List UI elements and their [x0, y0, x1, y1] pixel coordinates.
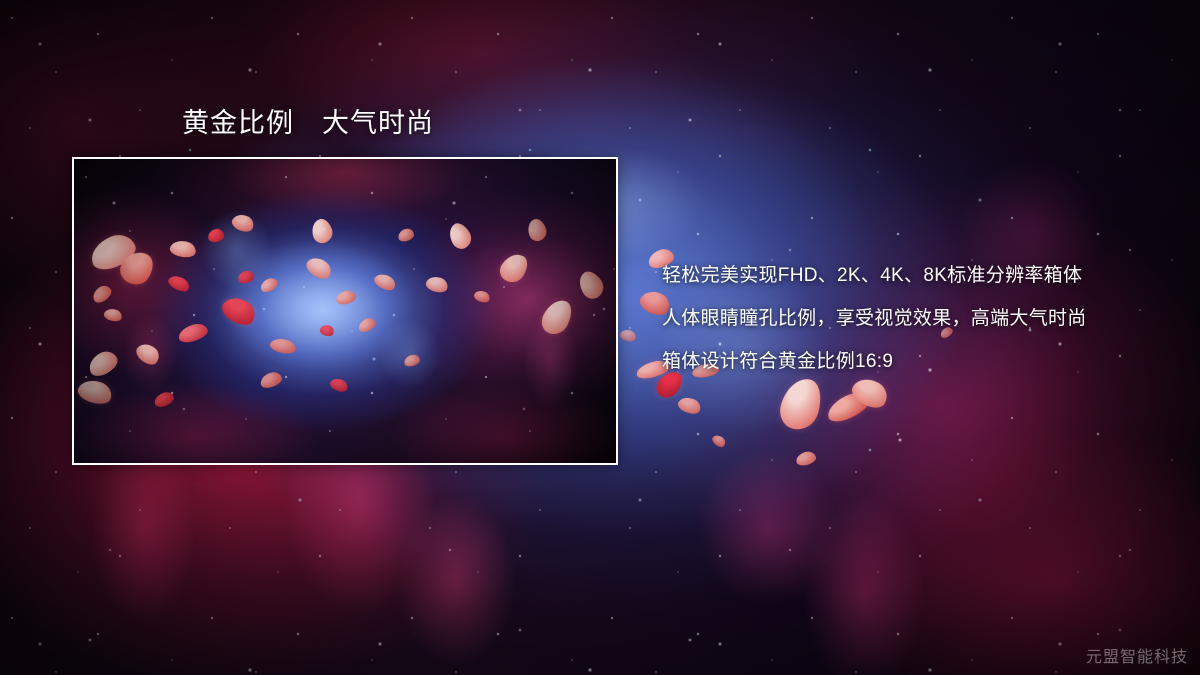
page-title: 黄金比例 大气时尚	[182, 101, 434, 140]
framed-photo	[72, 157, 618, 465]
background-petal	[710, 433, 727, 450]
background-petal	[795, 450, 817, 467]
background-petal	[619, 328, 638, 343]
body-line-2: 人体眼睛瞳孔比例，享受视觉效果，高端大气时尚	[662, 297, 1172, 340]
photo-vignette	[74, 159, 616, 463]
background-petal	[676, 394, 703, 417]
watermark: 元盟智能科技	[1086, 643, 1188, 667]
photo-inner	[74, 159, 616, 463]
body-line-1: 轻松完美实现FHD、2K、4K、8K标准分辨率箱体	[662, 254, 1172, 297]
presentation-slide: 黄金比例 大气时尚 轻松完美实现FHD、2K、4K、8K标准分辨率箱体 人体眼睛…	[0, 0, 1200, 675]
body-text-block: 轻松完美实现FHD、2K、4K、8K标准分辨率箱体 人体眼睛瞳孔比例，享受视觉效…	[662, 254, 1172, 383]
body-line-3: 箱体设计符合黄金比例16:9	[662, 340, 1172, 383]
